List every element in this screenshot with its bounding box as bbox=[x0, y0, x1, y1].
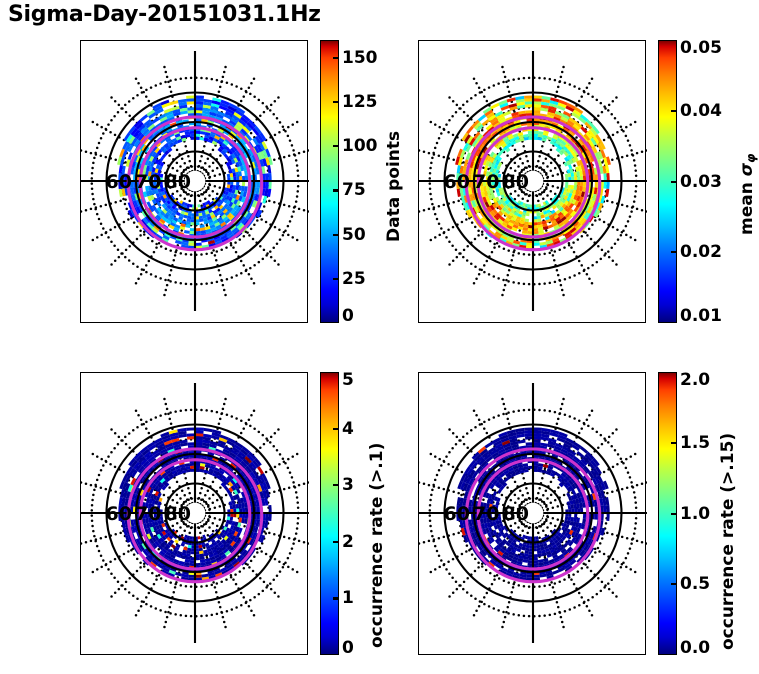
colorbar-tick bbox=[671, 583, 677, 585]
svg-text:60: 60 bbox=[444, 171, 470, 193]
svg-text:70: 70 bbox=[473, 171, 499, 193]
colorbar-title-data-points: Data points bbox=[384, 131, 404, 242]
polar-plot-svg-4: 607080 bbox=[419, 373, 647, 656]
colorbar-tick bbox=[333, 234, 339, 236]
colorbar-tick-label: 125 bbox=[342, 92, 378, 112]
polar-panel-mean-sigma-phi: 607080 bbox=[418, 40, 646, 323]
colorbar-tick-label: 25 bbox=[342, 269, 366, 289]
svg-text:80: 80 bbox=[165, 171, 191, 193]
polar-panel-occurrence-rate-01: 607080 bbox=[80, 372, 308, 655]
svg-text:80: 80 bbox=[165, 503, 191, 525]
polar-panel-occurrence-rate-015: 607080 bbox=[418, 372, 646, 655]
colorbar-tick bbox=[333, 278, 339, 280]
colorbar-tick bbox=[333, 189, 339, 191]
colorbar-tick-label: 0.03 bbox=[680, 172, 722, 192]
colorbar-tick-label: 150 bbox=[342, 48, 378, 68]
figure-title: Sigma-Day-20151031.1Hz bbox=[8, 2, 321, 27]
colorbar-tick-label: 0.05 bbox=[680, 38, 722, 58]
colorbar-tick bbox=[671, 110, 677, 112]
colorbar-tick-label: 5 bbox=[342, 370, 354, 390]
svg-text:70: 70 bbox=[473, 503, 499, 525]
colorbar-ticks-occurrence-rate-015: 0.00.51.01.52.0 bbox=[671, 372, 751, 655]
polar-plot-svg-1: 607080 bbox=[81, 41, 309, 324]
colorbar-tick bbox=[333, 541, 339, 543]
svg-text:60: 60 bbox=[444, 503, 470, 525]
polar-plot-svg-2: 607080 bbox=[419, 41, 647, 324]
colorbar-tick bbox=[333, 57, 339, 59]
colorbar-tick-label: 1 bbox=[342, 588, 354, 608]
colorbar-tick-label: 1.5 bbox=[680, 433, 710, 453]
colorbar-tick-label: 0.0 bbox=[680, 638, 710, 658]
colorbar-tick-label: 0 bbox=[342, 306, 354, 326]
svg-text:70: 70 bbox=[135, 171, 161, 193]
figure-root: Sigma-Day-20151031.1Hz 607080 0255075100… bbox=[0, 0, 759, 674]
colorbar-tick-label: 0 bbox=[342, 638, 354, 658]
colorbar-tick bbox=[333, 101, 339, 103]
colorbar-tick-label: 75 bbox=[342, 180, 366, 200]
colorbar-title-occurrence-rate-01: occurrence rate (>.1) bbox=[367, 443, 387, 648]
colorbar-tick-label: 0.02 bbox=[680, 242, 722, 262]
colorbar-tick-label: 4 bbox=[342, 419, 354, 439]
svg-text:70: 70 bbox=[135, 503, 161, 525]
colorbar-tick bbox=[333, 145, 339, 147]
polar-panel-data-points: 607080 bbox=[80, 40, 308, 323]
colorbar-tick bbox=[671, 251, 677, 253]
colorbar-tick-label: 0.04 bbox=[680, 101, 722, 121]
colorbar-tick bbox=[671, 513, 677, 515]
colorbar-tick-label: 2.0 bbox=[680, 370, 710, 390]
svg-text:60: 60 bbox=[106, 171, 132, 193]
colorbar-title-mean-sigma-phi: mean σφ bbox=[737, 154, 758, 235]
colorbar-tick bbox=[671, 181, 677, 183]
colorbar-tick bbox=[333, 597, 339, 599]
colorbar-tick-label: 0.01 bbox=[680, 306, 722, 326]
colorbar-tick-label: 2 bbox=[342, 532, 354, 552]
svg-text:80: 80 bbox=[503, 171, 529, 193]
svg-text:80: 80 bbox=[503, 503, 529, 525]
colorbar-tick bbox=[671, 442, 677, 444]
colorbar-title-occurrence-rate-015: occurrence rate (>.15) bbox=[718, 433, 738, 650]
colorbar-tick-label: 3 bbox=[342, 475, 354, 495]
svg-text:60: 60 bbox=[106, 503, 132, 525]
colorbar-tick-label: 100 bbox=[342, 136, 378, 156]
colorbar-tick-label: 0.5 bbox=[680, 574, 710, 594]
colorbar-tick-label: 1.0 bbox=[680, 504, 710, 524]
colorbar-tick bbox=[333, 428, 339, 430]
colorbar-tick-label: 50 bbox=[342, 225, 366, 245]
colorbar-tick bbox=[333, 484, 339, 486]
polar-plot-svg-3: 607080 bbox=[81, 373, 309, 656]
